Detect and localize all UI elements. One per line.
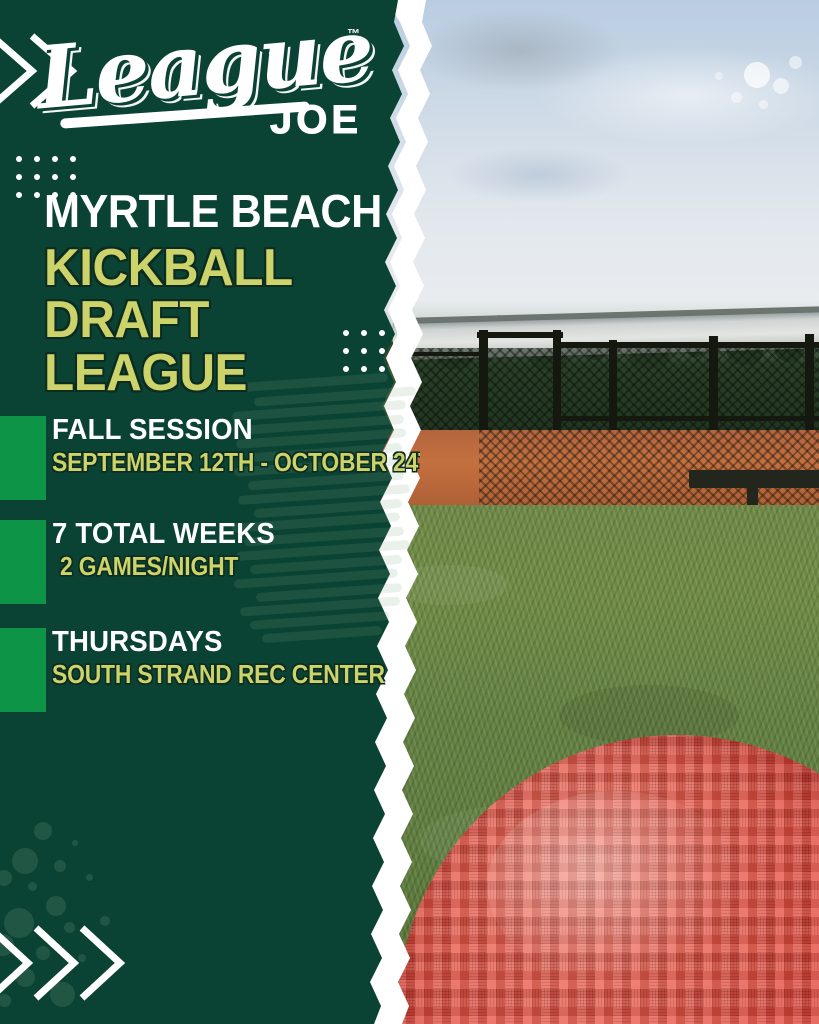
flyer-canvas: League JOE ™ MYRTLE BEACH KICKBALL DRAFT… <box>0 0 819 1024</box>
info-subtext: SEPTEMBER 12TH - OCTOBER 24TH <box>52 449 420 475</box>
trademark-icon: ™ <box>347 26 360 41</box>
info-block-weeks: 7 TOTAL WEEKS 2 GAMES/NIGHT <box>0 520 420 616</box>
fence-rail <box>555 416 819 421</box>
info-subtext: 2 GAMES/NIGHT <box>60 553 238 579</box>
page-title-city: MYRTLE BEACH <box>44 188 382 234</box>
accent-bar <box>0 416 46 500</box>
info-block-session: FALL SESSION SEPTEMBER 12TH - OCTOBER 24… <box>0 416 420 512</box>
info-block-day-location: THURSDAYS SOUTH STRAND REC CENTER <box>0 628 420 724</box>
dugout-bench <box>689 470 819 488</box>
chevron-triple-bottom-left <box>0 920 144 1006</box>
info-subtext: SOUTH STRAND REC CENTER <box>52 661 385 687</box>
info-heading: FALL SESSION <box>52 416 253 445</box>
accent-bar <box>0 628 46 712</box>
page-title-line1: KICKBALL <box>44 242 293 295</box>
green-info-panel: League JOE ™ MYRTLE BEACH KICKBALL DRAFT… <box>0 0 420 1024</box>
field-photo <box>359 0 819 1024</box>
kickball-highlight <box>487 791 745 981</box>
info-heading: THURSDAYS <box>52 628 223 657</box>
fence-rail <box>477 332 563 338</box>
accent-bar <box>0 520 46 604</box>
logo-block-word: JOE <box>270 98 362 143</box>
league-joe-logo: League JOE ™ <box>36 14 366 144</box>
page-title-line2: DRAFT LEAGUE <box>44 294 401 400</box>
fence-rail <box>559 342 819 348</box>
info-heading: 7 TOTAL WEEKS <box>52 520 275 549</box>
